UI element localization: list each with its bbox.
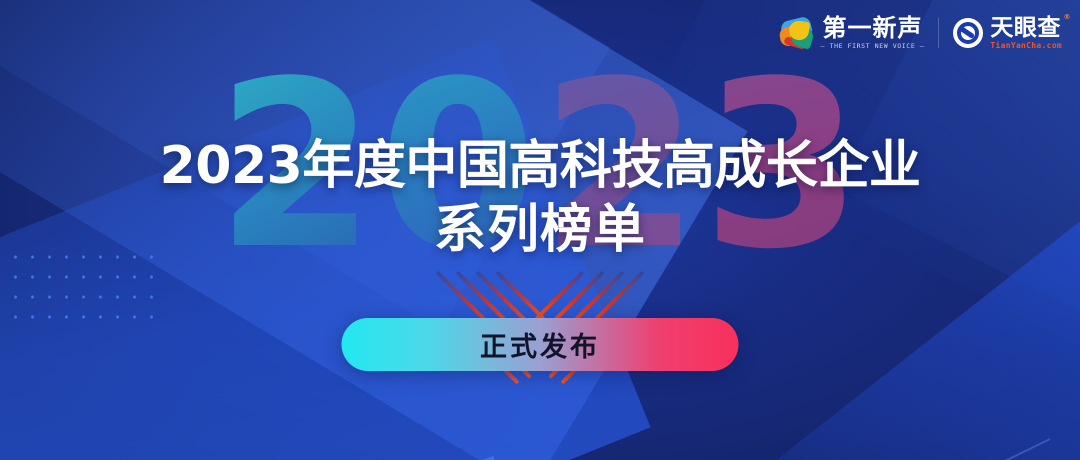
diagonal-edge-bottom-left: [0, 456, 495, 460]
release-status-label: 正式发布: [480, 325, 600, 364]
release-status-badge[interactable]: 正式发布: [342, 318, 739, 371]
logo-divider: [938, 18, 939, 48]
logo-name-tianyancha-text: 天眼查: [990, 15, 1061, 41]
logo-tagline-diyi-xinsheng: — THE FIRST NEW VOICE —: [821, 42, 925, 50]
logo-diyi-xinsheng[interactable]: 第一新声 — THE FIRST NEW VOICE —: [780, 16, 925, 50]
title-line-1: 2023年度中国高科技高成长企业: [0, 135, 1080, 197]
logo-name-diyi-xinsheng: 第一新声: [822, 16, 922, 41]
title-line-2: 系列榜单: [0, 197, 1080, 263]
banner-title: 2023年度中国高科技高成长企业 系列榜单: [0, 135, 1080, 263]
logo-name-tianyancha: 天眼查 ®: [990, 16, 1062, 40]
logo-bar: 第一新声 — THE FIRST NEW VOICE — 天眼查 ® TianY…: [780, 16, 1062, 50]
logo-tagline-tianyancha: TianYanCha.com: [990, 41, 1062, 50]
swirl-ribbon-logo-icon: [780, 17, 814, 49]
promo-banner: 2023 第一新声 — THE: [0, 0, 1080, 460]
tianyancha-eye-logo-icon: [953, 18, 983, 48]
trademark-symbol: ®: [1064, 14, 1072, 21]
diagonal-line-bottom-right: [672, 438, 1050, 460]
logo-tianyancha[interactable]: 天眼查 ® TianYanCha.com: [953, 16, 1062, 50]
